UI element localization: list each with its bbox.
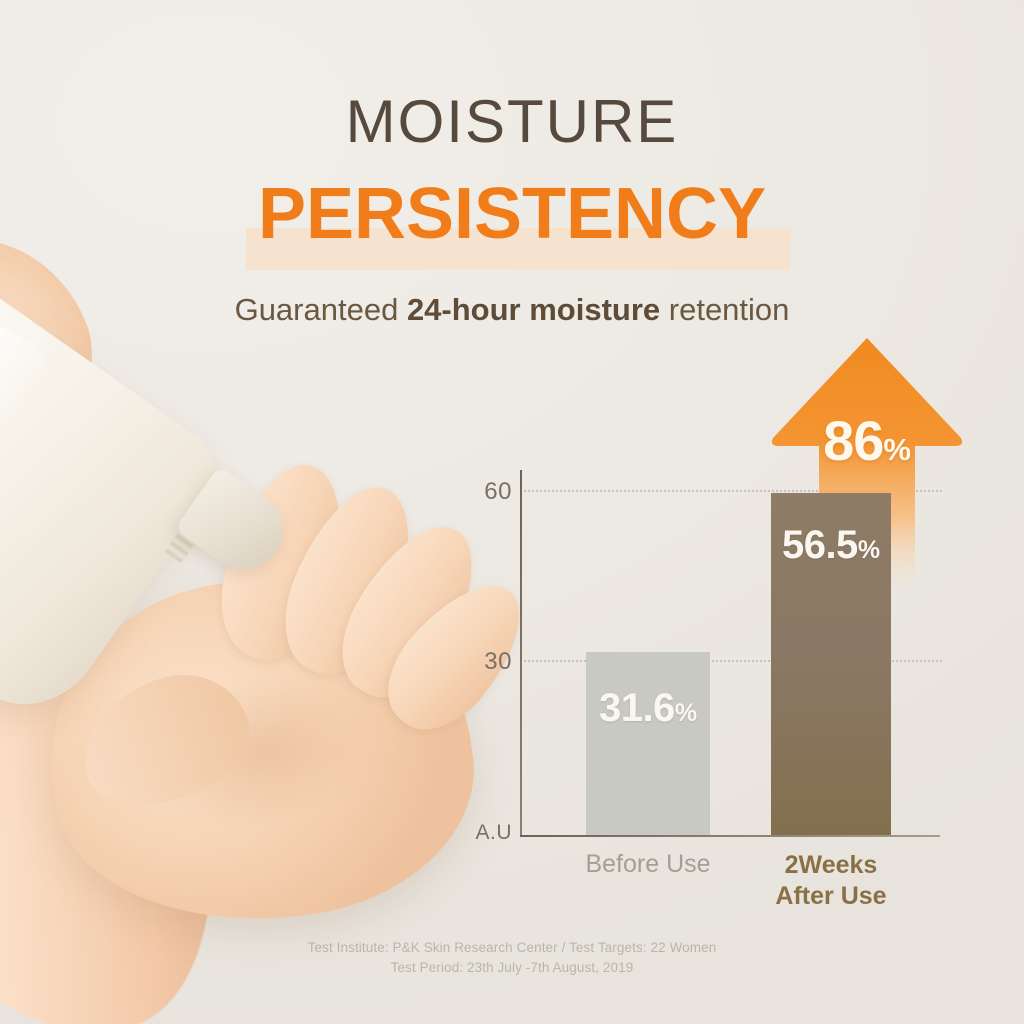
product-photo: TIRTIR MILK SKIN TONER Refreshing Skin ·… [0,250,490,970]
bar-value-after-number: 56.5 [782,523,858,567]
bar-value-after-unit: % [858,536,880,564]
y-axis-unit-label: A.U [470,822,512,843]
subtitle: Guaranteed 24-hour moisture retention [0,292,1024,328]
bar-after-use: 56.5% [771,493,891,835]
bar-value-after: 56.5% [771,523,891,568]
x-category-after-line1: 2Weeks [741,850,921,881]
x-category-after-line2: After Use [741,881,921,912]
bar-before-use: 31.6% [586,652,710,835]
footnote-line-1: Test Institute: P&K Skin Research Center… [0,938,1024,958]
y-axis-line [520,470,522,835]
headline-primary: MOISTURE [0,92,1024,152]
bar-value-before-number: 31.6 [599,686,675,730]
study-footnote: Test Institute: P&K Skin Research Center… [0,938,1024,977]
moisture-bar-chart: 60 30 A.U 86% 31.6% 5 [470,330,990,930]
x-axis-line [520,835,940,837]
subtitle-emphasis: 24-hour moisture [407,292,660,327]
increase-unit: % [883,432,911,467]
subtitle-part-1: Guaranteed [235,292,407,327]
increase-number: 86 [823,409,883,472]
x-category-before: Before Use [556,850,740,879]
headline-accent-wrap: PERSISTENCY [0,178,1024,274]
y-tick-label-30: 30 [470,650,512,674]
bar-value-before-unit: % [675,699,697,727]
footnote-line-2: Test Period: 23th July -7th August, 2019 [0,958,1024,978]
x-category-after: 2Weeks After Use [741,850,921,913]
subtitle-part-2: retention [660,292,789,327]
headline-accent: PERSISTENCY [258,178,766,250]
promo-banner: TIRTIR MILK SKIN TONER Refreshing Skin ·… [0,0,1024,1024]
bar-value-before: 31.6% [586,686,710,731]
increase-value: 86% [769,408,965,473]
y-tick-label-60: 60 [470,480,512,504]
bottle-highlight [0,316,57,601]
